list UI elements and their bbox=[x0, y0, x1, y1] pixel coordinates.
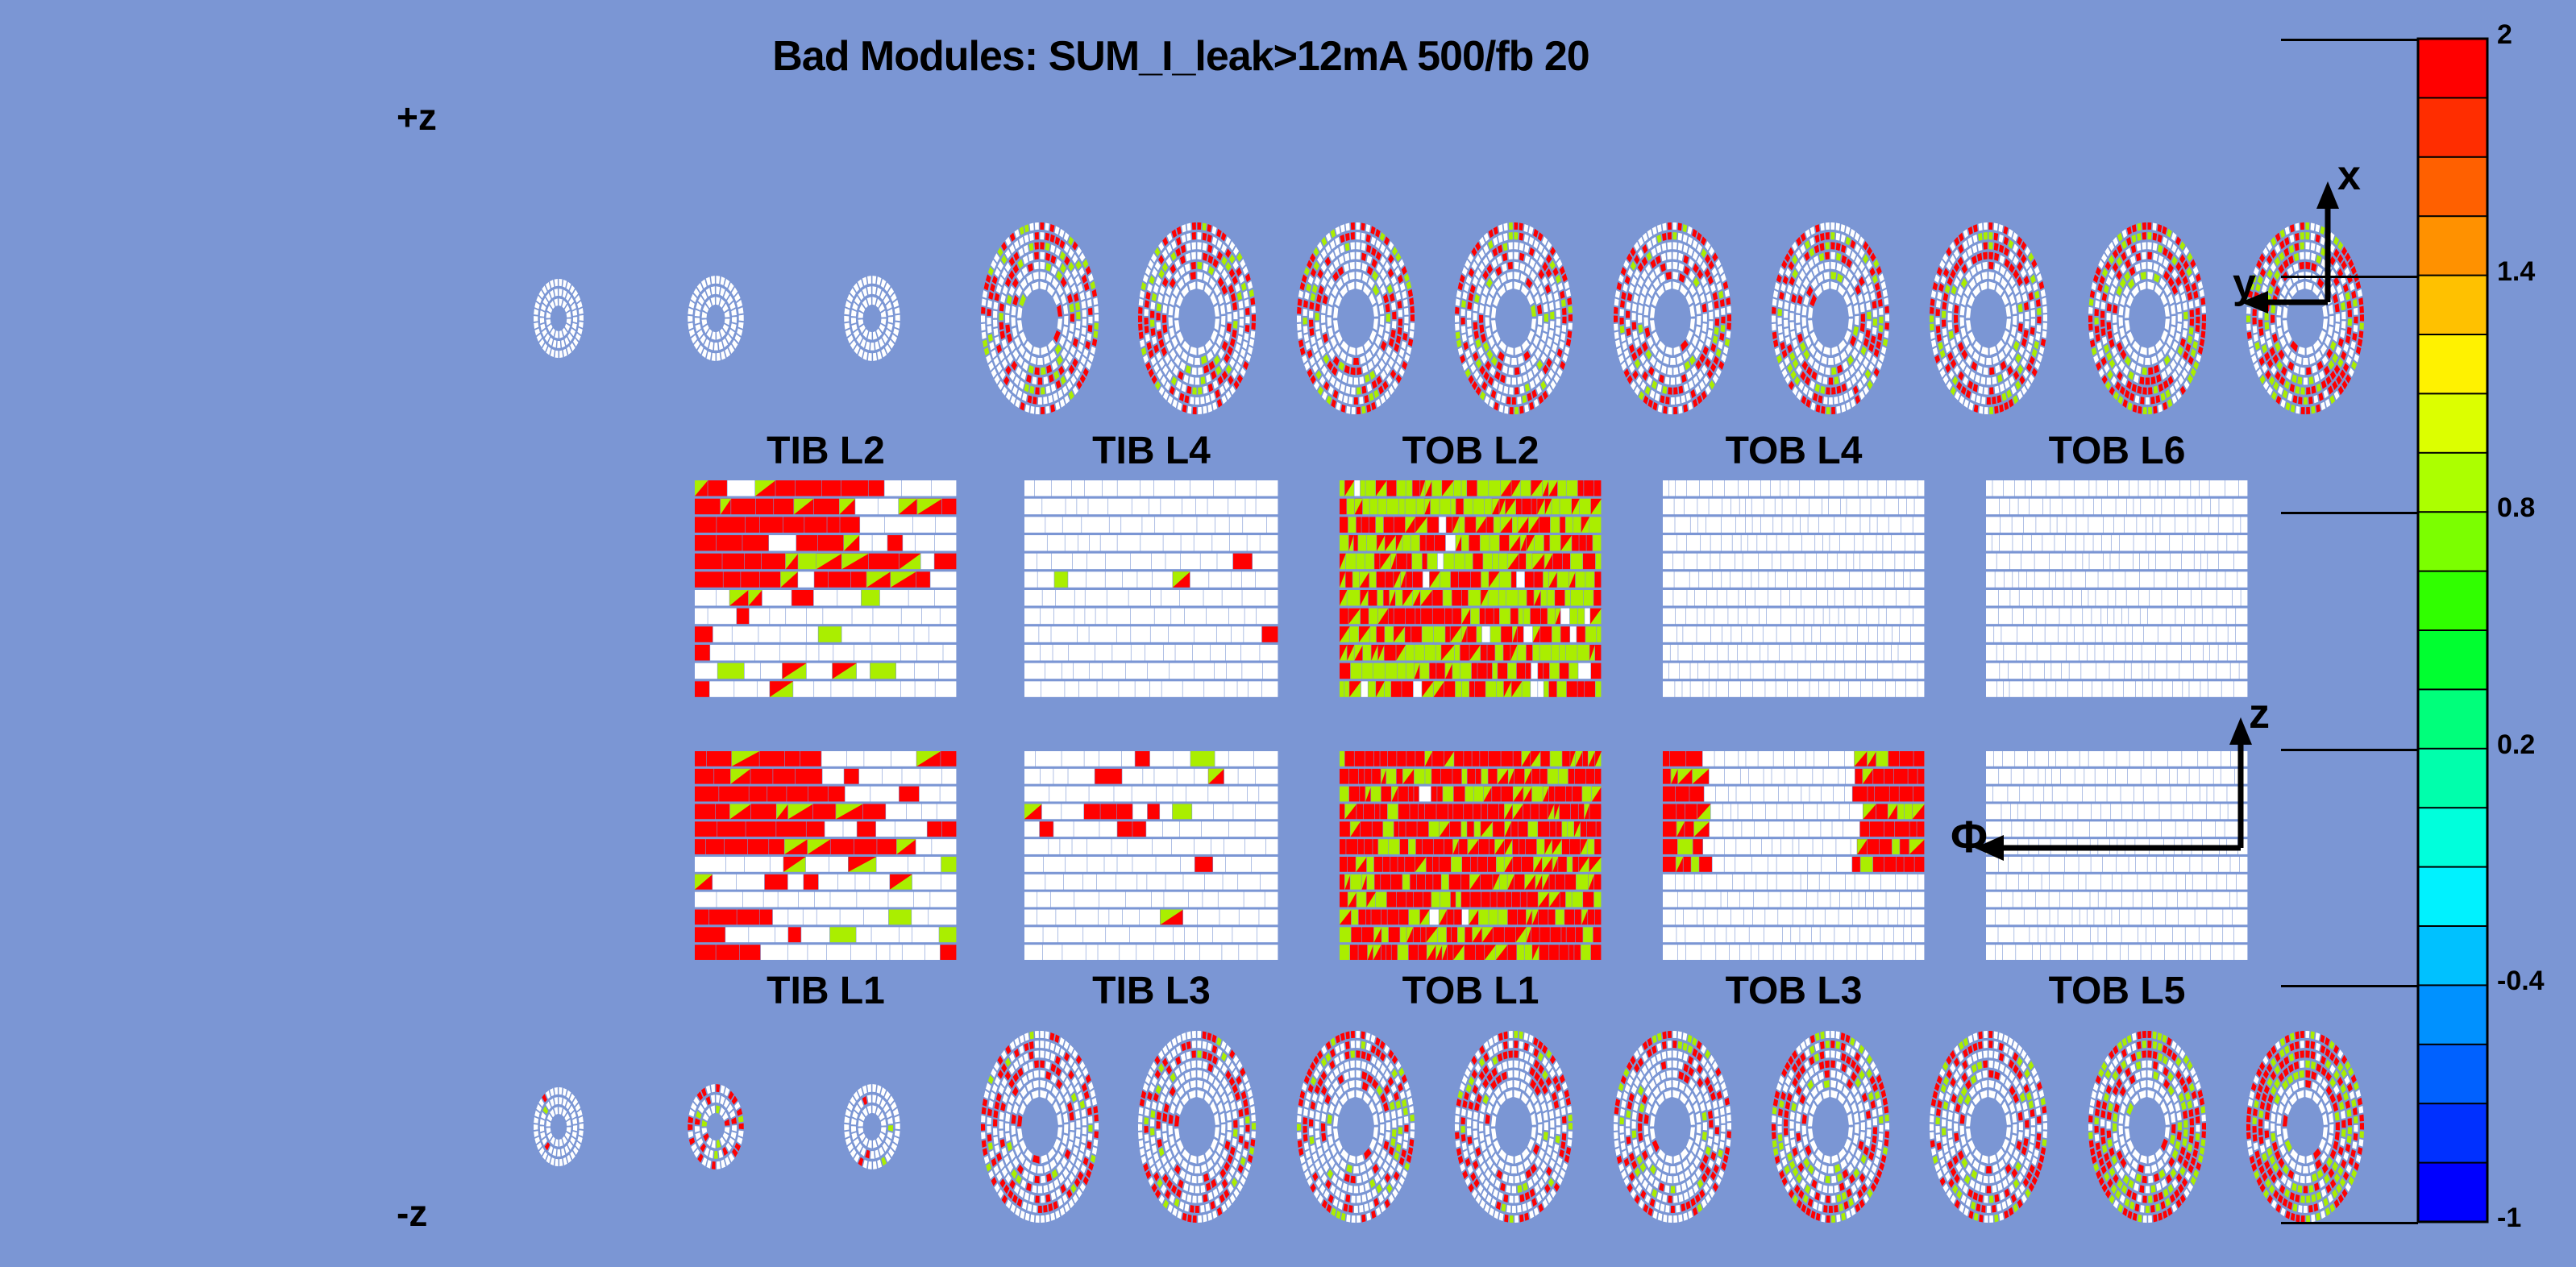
endcap-module bbox=[1664, 1154, 1672, 1164]
endcap-module bbox=[1672, 232, 1677, 240]
endcap-module bbox=[1345, 1194, 1351, 1203]
endcap-module bbox=[2136, 243, 2142, 251]
endcap-module bbox=[1205, 394, 1211, 404]
endcap-module bbox=[1238, 1108, 1244, 1117]
endcap-module bbox=[1186, 1194, 1192, 1203]
endcap-module bbox=[1672, 1079, 1679, 1088]
endcap-module bbox=[2283, 320, 2289, 333]
endcap-module bbox=[2246, 331, 2252, 340]
endcap-module bbox=[1138, 306, 1143, 314]
endcap-module bbox=[1075, 301, 1081, 311]
endcap-module bbox=[1198, 406, 1203, 414]
endcap-disk-tid-plus-2[interactable] bbox=[688, 276, 744, 362]
endcap-module bbox=[1239, 309, 1244, 318]
endcap-module bbox=[1719, 298, 1725, 307]
endcap-module bbox=[1667, 1175, 1672, 1184]
endcap-disk-tec-plus-4[interactable] bbox=[1455, 222, 1573, 414]
endcap-module bbox=[1297, 1132, 1303, 1140]
endcap-disk-tec-minus-7[interactable] bbox=[1930, 1030, 2048, 1223]
endcap-module bbox=[1404, 316, 1409, 324]
endcap-module bbox=[1772, 1115, 1776, 1123]
endcap-module bbox=[1150, 1128, 1155, 1136]
endcap-module bbox=[1239, 318, 1244, 326]
endcap-module bbox=[1936, 300, 1942, 309]
endcap-module bbox=[1385, 303, 1390, 313]
endcap-module bbox=[1508, 242, 1513, 250]
endcap-disk-tec-plus-3[interactable] bbox=[1297, 222, 1415, 414]
endcap-module bbox=[1509, 407, 1514, 415]
endcap-module bbox=[1232, 329, 1237, 339]
endcap-module bbox=[1505, 281, 1513, 292]
endcap-module bbox=[2005, 318, 2011, 331]
endcap-module bbox=[1044, 355, 1051, 365]
endcap-module bbox=[1327, 1136, 1334, 1147]
endcap-module bbox=[1359, 1204, 1364, 1213]
endcap-module bbox=[1380, 315, 1385, 326]
endcap-module bbox=[1859, 1111, 1865, 1121]
endcap-module bbox=[1140, 339, 1145, 348]
endcap-module bbox=[1977, 243, 1983, 251]
endcap-module bbox=[1345, 232, 1351, 241]
endcap-module bbox=[1822, 1154, 1830, 1164]
endcap-module bbox=[2177, 314, 2182, 323]
endcap-module bbox=[1673, 367, 1679, 376]
endcap-module bbox=[1156, 312, 1161, 321]
endcap-module bbox=[1626, 1128, 1631, 1136]
endcap-module bbox=[1619, 1134, 1625, 1143]
endcap-module bbox=[1350, 1030, 1355, 1038]
endcap-disk-tec-minus-5[interactable] bbox=[1614, 1030, 1732, 1223]
endcap-module bbox=[1365, 1032, 1371, 1041]
endcap-module bbox=[1825, 1060, 1830, 1069]
endcap-module bbox=[1531, 1127, 1536, 1140]
endcap-module bbox=[1501, 1203, 1506, 1212]
endcap-module bbox=[1777, 1126, 1782, 1134]
endcap-module bbox=[1327, 327, 1334, 339]
endcap-module bbox=[2264, 322, 2270, 330]
endcap-module bbox=[1030, 1164, 1037, 1174]
endcap-module bbox=[1830, 222, 1835, 230]
endcap-module bbox=[1626, 1110, 1631, 1119]
endcap-module bbox=[1835, 232, 1841, 241]
endcap-module bbox=[1828, 1206, 1833, 1214]
endcap-module bbox=[1567, 1139, 1573, 1148]
endcap-module bbox=[1309, 1110, 1315, 1119]
endcap-module bbox=[1670, 1186, 1676, 1194]
endcap-module bbox=[982, 289, 987, 298]
endcap-module bbox=[1696, 1112, 1701, 1124]
endcap-module bbox=[1678, 252, 1684, 262]
endcap-module bbox=[1041, 1195, 1045, 1203]
endcap-module bbox=[1353, 1206, 1358, 1214]
endcap-module bbox=[1485, 1114, 1490, 1124]
endcap-module bbox=[2253, 334, 2258, 343]
endcap-module bbox=[1297, 1107, 1303, 1115]
endcap-module bbox=[2042, 330, 2047, 339]
endcap-module bbox=[999, 1130, 1004, 1139]
endcap-module bbox=[1028, 243, 1034, 251]
endcap-module bbox=[1048, 1203, 1053, 1212]
endcap-module bbox=[1321, 324, 1327, 334]
endcap-module bbox=[993, 1136, 999, 1145]
endcap-module bbox=[1847, 1112, 1854, 1125]
endcap-module bbox=[1034, 232, 1039, 240]
endcap-module bbox=[1202, 1031, 1207, 1040]
endcap-module bbox=[1614, 1132, 1619, 1140]
endcap-module bbox=[2148, 387, 2153, 395]
endcap-module bbox=[1050, 404, 1056, 413]
endcap-module bbox=[1981, 272, 1988, 280]
endcap-module bbox=[1081, 1108, 1086, 1117]
endcap-module bbox=[1719, 333, 1725, 342]
endcap-module bbox=[1356, 281, 1364, 291]
endcap-module bbox=[2311, 405, 2316, 414]
endcap-module bbox=[1796, 1123, 1801, 1132]
endcap-module bbox=[2094, 326, 2100, 334]
endcap-module bbox=[1364, 394, 1369, 404]
endcap-module bbox=[1356, 222, 1361, 230]
endcap-module bbox=[1514, 232, 1519, 240]
endcap-module bbox=[1644, 1136, 1651, 1147]
endcap-module bbox=[1930, 306, 1934, 314]
endcap-module bbox=[888, 1125, 894, 1132]
endcap-module bbox=[1678, 1061, 1684, 1070]
endcap-module bbox=[1402, 298, 1408, 307]
endcap-module bbox=[1662, 1031, 1667, 1040]
endcap-module bbox=[714, 343, 719, 351]
endcap-module bbox=[1045, 385, 1051, 394]
endcap-module bbox=[714, 1151, 719, 1160]
endcap-module bbox=[1514, 1175, 1520, 1184]
endcap-module bbox=[1777, 1134, 1783, 1143]
endcap-module bbox=[1983, 222, 1988, 230]
endcap-module bbox=[999, 302, 1004, 312]
endcap-module bbox=[1244, 1141, 1249, 1150]
endcap-module bbox=[1392, 311, 1397, 320]
endcap-module bbox=[2340, 329, 2345, 339]
endcap-module bbox=[1514, 1215, 1519, 1223]
endcap-module bbox=[1315, 312, 1319, 321]
endcap-disk-tec-minus-6[interactable] bbox=[1772, 1030, 1890, 1223]
endcap-module bbox=[1333, 1114, 1339, 1127]
endcap-module bbox=[2322, 318, 2328, 331]
endcap-module bbox=[1701, 1132, 1707, 1141]
endcap-module bbox=[1536, 326, 1543, 337]
endcap-module bbox=[1410, 314, 1415, 322]
endcap-module bbox=[999, 1111, 1004, 1120]
endcap-module bbox=[1244, 1133, 1250, 1141]
endcap-module bbox=[1662, 222, 1667, 231]
endcap-module bbox=[1315, 322, 1320, 330]
endcap-module bbox=[1315, 1111, 1320, 1120]
endcap-module bbox=[1998, 223, 2004, 232]
endcap-module bbox=[1550, 1120, 1555, 1128]
endcap-disk-tec-plus-8[interactable] bbox=[2088, 222, 2207, 414]
endcap-module bbox=[572, 317, 577, 323]
endcap-module bbox=[1549, 321, 1555, 330]
endcap-module bbox=[1391, 301, 1397, 311]
endcap-module bbox=[1726, 297, 1731, 305]
endcap-module bbox=[1198, 367, 1203, 376]
endcap-module bbox=[1847, 304, 1854, 317]
endcap-module bbox=[738, 314, 744, 322]
endcap-module bbox=[1502, 252, 1507, 262]
endcap-module bbox=[1030, 405, 1035, 414]
endcap-module bbox=[1631, 1130, 1637, 1139]
endcap-module bbox=[738, 1123, 744, 1130]
endcap-module bbox=[1249, 1097, 1254, 1106]
endcap-module bbox=[1673, 1195, 1678, 1203]
endcap-module bbox=[1626, 310, 1631, 318]
endcap-module bbox=[1726, 1105, 1731, 1114]
endcap-module bbox=[1681, 394, 1686, 404]
endcap-module bbox=[1221, 1124, 1226, 1134]
endcap-module bbox=[2276, 317, 2282, 327]
endcap-module bbox=[1801, 305, 1807, 316]
endcap-module bbox=[1361, 385, 1367, 394]
endcap-module bbox=[1030, 355, 1037, 365]
endcap-module bbox=[1667, 1060, 1672, 1069]
endcap-module bbox=[1822, 1090, 1830, 1100]
endcap-disk-tec-plus-1[interactable] bbox=[981, 222, 1099, 414]
endcap-module bbox=[983, 339, 988, 348]
endcap-module bbox=[993, 301, 999, 310]
endcap-module bbox=[2309, 355, 2316, 365]
endcap-module bbox=[1503, 385, 1509, 394]
endcap-module bbox=[1978, 385, 1984, 394]
endcap-module bbox=[1677, 232, 1683, 241]
endcap-module bbox=[1519, 1051, 1524, 1060]
endcap-module bbox=[2141, 261, 2146, 270]
endcap-module bbox=[1556, 1127, 1560, 1135]
endcap-module bbox=[1219, 326, 1226, 337]
endcap-module bbox=[1831, 406, 1836, 414]
endcap-module bbox=[1203, 385, 1208, 394]
endcap-module bbox=[2147, 242, 2152, 250]
endcap-module bbox=[1485, 317, 1490, 327]
endcap-module bbox=[1082, 1127, 1086, 1135]
endcap-module bbox=[1815, 1212, 1821, 1221]
endcap-module bbox=[1982, 261, 1988, 270]
endcap-module bbox=[993, 319, 998, 327]
endcap-module bbox=[2024, 301, 2030, 311]
endcap-module bbox=[1032, 1154, 1040, 1164]
endcap-module bbox=[2150, 376, 2156, 384]
endcap-module bbox=[1836, 1194, 1842, 1203]
endcap-module bbox=[1504, 1214, 1509, 1223]
endcap-disk-tec-plus-5[interactable] bbox=[1614, 222, 1732, 414]
endcap-module bbox=[1714, 326, 1719, 335]
endcap-module bbox=[1227, 1122, 1232, 1132]
endcap-module bbox=[1366, 404, 1372, 413]
endcap-module bbox=[1561, 1133, 1567, 1141]
endcap-module bbox=[1825, 222, 1830, 230]
endcap-module bbox=[1045, 405, 1050, 414]
endcap-module bbox=[1508, 1060, 1514, 1069]
endcap-module bbox=[2170, 326, 2176, 337]
endcap-module bbox=[1872, 1135, 1877, 1144]
endcap-module bbox=[1667, 251, 1672, 260]
endcap-module bbox=[1514, 1041, 1519, 1049]
endcap-module bbox=[1373, 1112, 1379, 1125]
endcap-module bbox=[1661, 243, 1667, 251]
endcap-module bbox=[1485, 327, 1492, 339]
endcap-disk-tec-plus-7[interactable] bbox=[1930, 222, 2048, 414]
endcap-module bbox=[2138, 405, 2142, 414]
endcap-module bbox=[1184, 395, 1190, 404]
endcap-module bbox=[1029, 232, 1035, 241]
endcap-module bbox=[1041, 406, 1045, 414]
endcap-module bbox=[1823, 272, 1830, 280]
endcap-module bbox=[1197, 222, 1202, 230]
endcap-disk-tec-minus-2[interactable] bbox=[1138, 1030, 1257, 1223]
endcap-module bbox=[1174, 1114, 1180, 1127]
endcap-module bbox=[1502, 1051, 1508, 1060]
endcap-module bbox=[1455, 1140, 1460, 1149]
endcap-module bbox=[1818, 395, 1823, 404]
endcap-module bbox=[1538, 1124, 1543, 1134]
endcap-module bbox=[1404, 1124, 1409, 1132]
endcap-module bbox=[1672, 251, 1678, 260]
endcap-module bbox=[1075, 1129, 1081, 1138]
endcap-module bbox=[1473, 1120, 1477, 1129]
endcap-module bbox=[1560, 1141, 1566, 1150]
endcap-module bbox=[1726, 305, 1732, 314]
endcap-module bbox=[1309, 1136, 1315, 1145]
endcap-module bbox=[1614, 323, 1619, 331]
endcap-module bbox=[1086, 333, 1092, 342]
endcap-disk-tid-minus-1[interactable] bbox=[534, 1086, 584, 1166]
endcap-module bbox=[1808, 320, 1814, 333]
endcap-disk-tec-plus-2[interactable] bbox=[1138, 222, 1257, 414]
endcap-module bbox=[1045, 252, 1051, 262]
endcap-module bbox=[1043, 376, 1049, 384]
endcap-module bbox=[1537, 304, 1543, 315]
endcap-module bbox=[2258, 319, 2263, 327]
endcap-module bbox=[1192, 387, 1197, 395]
endcap-module bbox=[1976, 252, 1982, 262]
endcap-disk-tec-plus-6[interactable] bbox=[1772, 222, 1890, 414]
endcap-module bbox=[2201, 314, 2206, 322]
endcap-module bbox=[1385, 1111, 1390, 1121]
endcap-module bbox=[1773, 1148, 1779, 1157]
endcap-module bbox=[1197, 261, 1203, 270]
endcap-module bbox=[1676, 1204, 1681, 1213]
endcap-module bbox=[1303, 1142, 1309, 1151]
endcap-module bbox=[1361, 243, 1366, 251]
endcap-module bbox=[2152, 222, 2157, 231]
endcap-module bbox=[1157, 330, 1162, 340]
endcap-module bbox=[1351, 1215, 1356, 1223]
endcap-module bbox=[1834, 1184, 1839, 1193]
endcap-module bbox=[1040, 1090, 1048, 1099]
endcap-module bbox=[1017, 305, 1023, 318]
endcap-module bbox=[1670, 357, 1676, 365]
endcap-module bbox=[1663, 1214, 1668, 1223]
endcap-module bbox=[1830, 1030, 1835, 1038]
endcap-disk-tec-minus-4[interactable] bbox=[1455, 1030, 1573, 1223]
endcap-module bbox=[1456, 289, 1461, 298]
endcap-module bbox=[1935, 318, 1940, 326]
endcap-module bbox=[1772, 1098, 1778, 1107]
endcap-module bbox=[2303, 357, 2309, 365]
endcap-module bbox=[2199, 338, 2204, 347]
endcap-disk-tid-minus-3[interactable] bbox=[844, 1084, 900, 1170]
endcap-module bbox=[1778, 334, 1784, 343]
endcap-module bbox=[1186, 232, 1192, 241]
endcap-module bbox=[1972, 224, 1978, 234]
endcap-module bbox=[1683, 1212, 1689, 1222]
endcap-module bbox=[1244, 325, 1250, 333]
endcap-module bbox=[1070, 314, 1074, 323]
endcap-disk-tid-plus-1[interactable] bbox=[534, 278, 584, 358]
endcap-module bbox=[1239, 1127, 1244, 1135]
endcap-module bbox=[1509, 1215, 1514, 1223]
endcap-module bbox=[1348, 272, 1355, 280]
endcap-module bbox=[1345, 222, 1350, 231]
endcap-module bbox=[1491, 1114, 1497, 1127]
endcap-module bbox=[1361, 252, 1367, 262]
endcap-module bbox=[1707, 1137, 1713, 1147]
endcap-module bbox=[1094, 314, 1099, 322]
endcap-module bbox=[539, 318, 544, 324]
endcap-module bbox=[1145, 300, 1150, 309]
endcap-module bbox=[1676, 1163, 1684, 1174]
endcap-module bbox=[1041, 387, 1045, 395]
endcap-module bbox=[1989, 367, 1995, 376]
endcap-module bbox=[1398, 309, 1402, 318]
endcap-module bbox=[2040, 338, 2046, 347]
endcap-module bbox=[1081, 300, 1086, 309]
endcap-disk-tec-minus-3[interactable] bbox=[1297, 1030, 1415, 1223]
endcap-module bbox=[2306, 346, 2314, 356]
endcap-module bbox=[1784, 319, 1789, 327]
endcap-module bbox=[1808, 1128, 1814, 1141]
endcap-module bbox=[1836, 1061, 1842, 1070]
endcap-module bbox=[1045, 1194, 1051, 1203]
endcap-module bbox=[2196, 307, 2201, 315]
tracker-map-canvas bbox=[0, 0, 2362, 1267]
endcap-disk-tec-minus-1[interactable] bbox=[981, 1030, 1099, 1223]
endcap-module bbox=[1853, 1134, 1859, 1145]
endcap-disk-tid-plus-3[interactable] bbox=[844, 276, 900, 362]
endcap-module bbox=[1045, 1051, 1050, 1060]
endcap-module bbox=[1884, 1105, 1889, 1114]
endcap-module bbox=[1349, 261, 1355, 270]
endcap-module bbox=[1203, 405, 1207, 414]
endcap-module bbox=[1954, 324, 1959, 334]
endcap-module bbox=[1988, 271, 1995, 280]
endcap-module bbox=[870, 1151, 875, 1160]
endcap-module bbox=[1032, 1205, 1037, 1214]
endcap-module bbox=[1460, 1126, 1465, 1134]
endcap-disk-tid-minus-2[interactable] bbox=[688, 1084, 744, 1170]
endcap-module bbox=[2359, 322, 2364, 330]
endcap-module bbox=[993, 1110, 999, 1119]
endcap-module bbox=[1988, 232, 1993, 240]
endcap-module bbox=[1560, 1107, 1566, 1115]
endcap-module bbox=[1491, 320, 1498, 333]
endcap-module bbox=[1989, 406, 1994, 414]
endcap-module bbox=[1348, 1154, 1356, 1164]
endcap-module bbox=[1460, 1134, 1466, 1143]
endcap-module bbox=[1455, 1115, 1460, 1123]
endcap-module bbox=[993, 328, 999, 337]
endcap-module bbox=[1966, 320, 1972, 333]
endcap-module bbox=[1045, 1061, 1051, 1070]
endcap-module bbox=[1984, 407, 1988, 415]
endcap-module bbox=[1198, 1154, 1206, 1165]
